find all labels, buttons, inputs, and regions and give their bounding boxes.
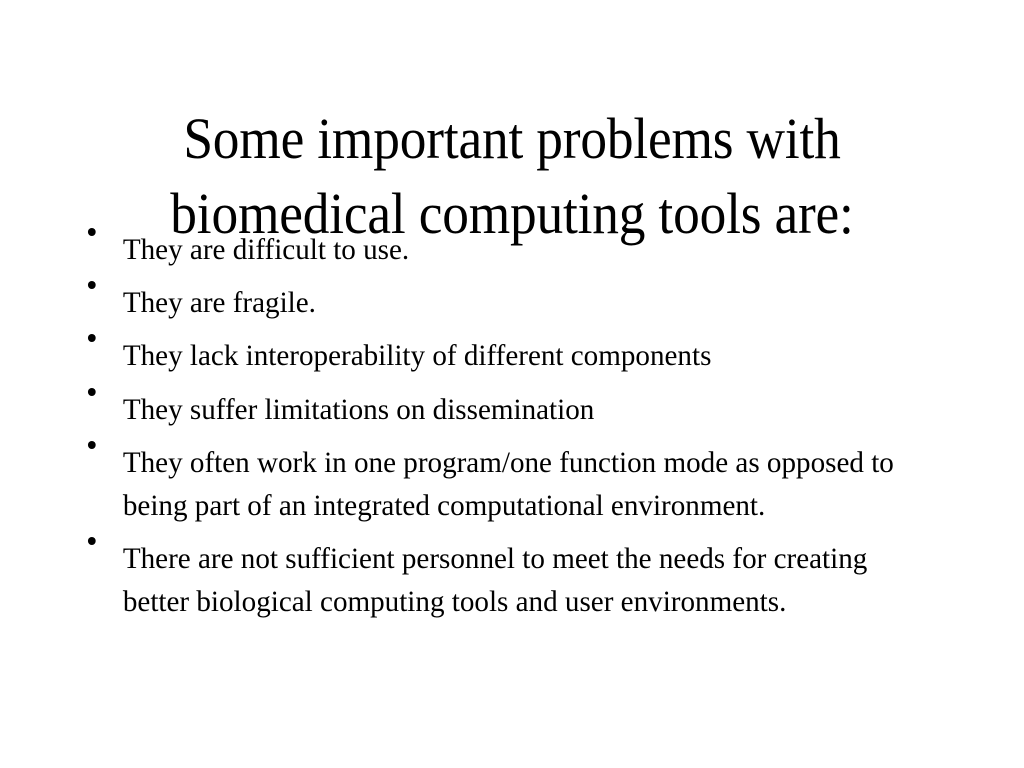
list-item-text: They often work in one program/one funct… (123, 441, 930, 527)
bullet-point-icon (88, 537, 96, 545)
list-item-text: They suffer limitations on dissemination (123, 388, 930, 431)
list-item: They lack interoperability of different … (86, 334, 930, 377)
bullet-point-icon (88, 228, 96, 236)
list-item: There are not sufficient personnel to me… (86, 537, 930, 623)
list-item-text: There are not sufficient personnel to me… (123, 537, 930, 623)
slide-bullet-list: They are difficult to use. They are frag… (86, 228, 956, 624)
slide-title-line-1: Some important problems with (78, 101, 946, 176)
list-item-text: They are fragile. (123, 281, 930, 324)
presentation-slide: Some important problems with biomedical … (0, 0, 1024, 768)
bullet-point-icon (88, 441, 96, 449)
list-item: They are fragile. (86, 281, 930, 324)
list-item: They often work in one program/one funct… (86, 441, 930, 527)
list-item-text: They are difficult to use. (123, 228, 930, 271)
bullet-point-icon (88, 334, 96, 342)
list-item: They suffer limitations on dissemination (86, 388, 930, 431)
bullet-point-icon (88, 281, 96, 289)
list-item: They are difficult to use. (86, 228, 930, 271)
bullet-point-icon (88, 388, 96, 396)
list-item-text: They lack interoperability of different … (123, 334, 930, 377)
